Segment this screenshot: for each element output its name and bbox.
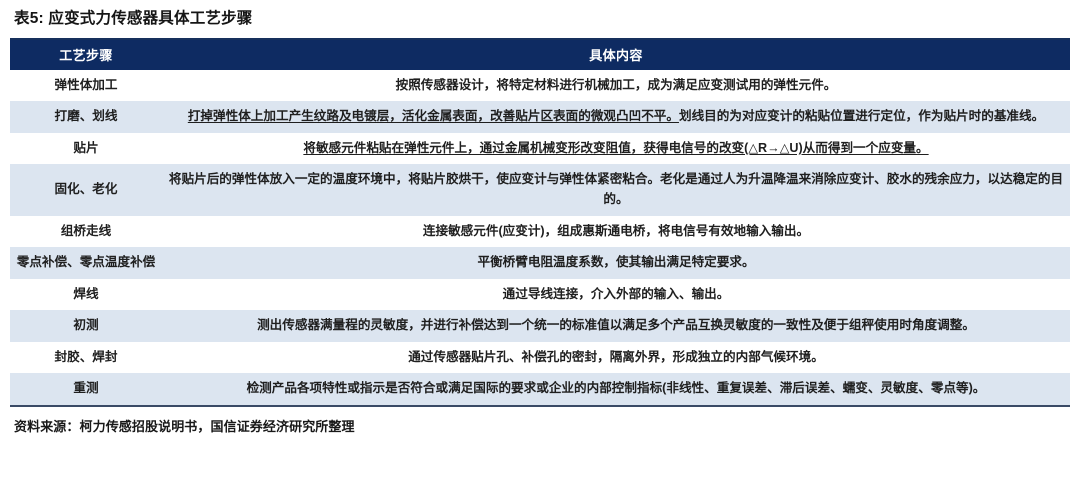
step-content-cell: 通过导线连接，介入外部的输入、输出。 xyxy=(162,279,1070,311)
table-row: 弹性体加工按照传感器设计，将特定材料进行机械加工，成为满足应变测试用的弹性元件。 xyxy=(10,70,1070,102)
step-content-cell: 打掉弹性体上加工产生纹路及电镀层，活化金属表面，改善贴片区表面的微观凸凹不平。划… xyxy=(162,101,1070,133)
plain-text: 划线目的为对应变计的粘贴位置进行定位，作为贴片时的基准线。 xyxy=(679,109,1044,123)
plain-text: 通过传感器贴片孔、补偿孔的密封，隔离外界，形成独立的内部气候环境。 xyxy=(408,350,824,364)
plain-text: 连接敏感元件(应变计)，组成惠斯通电桥，将电信号有效地输入输出。 xyxy=(423,224,809,238)
step-name-cell: 弹性体加工 xyxy=(10,70,162,102)
step-name-cell: 固化、老化 xyxy=(10,164,162,215)
source-note: 资料来源：柯力传感招股说明书，国信证券经济研究所整理 xyxy=(10,407,1070,435)
table-header-row: 工艺步骤 具体内容 xyxy=(10,39,1070,70)
step-content-cell: 测出传感器满量程的灵敏度，并进行补偿达到一个统一的标准值以满足多个产品互换灵敏度… xyxy=(162,310,1070,342)
column-header-step: 工艺步骤 xyxy=(10,39,162,70)
table-row: 重测检测产品各项特性或指示是否符合或满足国际的要求或企业的内部控制指标(非线性、… xyxy=(10,373,1070,406)
underlined-text: 将敏感元件粘贴在弹性元件上，通过金属机械变形改变阻值，获得电信号的改变(△R→△… xyxy=(303,141,928,155)
table-row: 固化、老化将贴片后的弹性体放入一定的温度环境中，将贴片胶烘干，使应变计与弹性体紧… xyxy=(10,164,1070,215)
plain-text: 检测产品各项特性或指示是否符合或满足国际的要求或企业的内部控制指标(非线性、重复… xyxy=(247,381,986,395)
plain-text: 通过导线连接，介入外部的输入、输出。 xyxy=(503,287,730,301)
step-name-cell: 打磨、划线 xyxy=(10,101,162,133)
step-content-cell: 检测产品各项特性或指示是否符合或满足国际的要求或企业的内部控制指标(非线性、重复… xyxy=(162,373,1070,406)
step-content-cell: 将贴片后的弹性体放入一定的温度环境中，将贴片胶烘干，使应变计与弹性体紧密粘合。老… xyxy=(162,164,1070,215)
step-name-cell: 组桥走线 xyxy=(10,216,162,248)
table-row: 焊线通过导线连接，介入外部的输入、输出。 xyxy=(10,279,1070,311)
table-row: 组桥走线连接敏感元件(应变计)，组成惠斯通电桥，将电信号有效地输入输出。 xyxy=(10,216,1070,248)
plain-text: 平衡桥臂电阻温度系数，使其输出满足特定要求。 xyxy=(477,255,754,269)
step-name-cell: 零点补偿、零点温度补偿 xyxy=(10,247,162,279)
table-row: 初测测出传感器满量程的灵敏度，并进行补偿达到一个统一的标准值以满足多个产品互换灵… xyxy=(10,310,1070,342)
step-name-cell: 贴片 xyxy=(10,133,162,165)
page-title: 表5: 应变式力传感器具体工艺步骤 xyxy=(10,0,1070,38)
table-header: 工艺步骤 具体内容 xyxy=(10,39,1070,70)
step-content-cell: 连接敏感元件(应变计)，组成惠斯通电桥，将电信号有效地输入输出。 xyxy=(162,216,1070,248)
step-name-cell: 封胶、焊封 xyxy=(10,342,162,374)
underlined-text: 打掉弹性体上加工产生纹路及电镀层，活化金属表面，改善贴片区表面的微观凸凹不平。 xyxy=(188,109,679,123)
step-name-cell: 重测 xyxy=(10,373,162,406)
step-content-cell: 将敏感元件粘贴在弹性元件上，通过金属机械变形改变阻值，获得电信号的改变(△R→△… xyxy=(162,133,1070,165)
table-row: 零点补偿、零点温度补偿平衡桥臂电阻温度系数，使其输出满足特定要求。 xyxy=(10,247,1070,279)
step-content-cell: 通过传感器贴片孔、补偿孔的密封，隔离外界，形成独立的内部气候环境。 xyxy=(162,342,1070,374)
plain-text: 测出传感器满量程的灵敏度，并进行补偿达到一个统一的标准值以满足多个产品互换灵敏度… xyxy=(257,318,975,332)
table-figure: 表5: 应变式力传感器具体工艺步骤 工艺步骤 具体内容 弹性体加工按照传感器设计… xyxy=(0,0,1080,499)
table-row: 贴片将敏感元件粘贴在弹性元件上，通过金属机械变形改变阻值，获得电信号的改变(△R… xyxy=(10,133,1070,165)
step-content-cell: 按照传感器设计，将特定材料进行机械加工，成为满足应变测试用的弹性元件。 xyxy=(162,70,1070,102)
table-body: 弹性体加工按照传感器设计，将特定材料进行机械加工，成为满足应变测试用的弹性元件。… xyxy=(10,70,1070,406)
column-header-content: 具体内容 xyxy=(162,39,1070,70)
step-content-cell: 平衡桥臂电阻温度系数，使其输出满足特定要求。 xyxy=(162,247,1070,279)
plain-text: 按照传感器设计，将特定材料进行机械加工，成为满足应变测试用的弹性元件。 xyxy=(396,78,837,92)
table-row: 打磨、划线打掉弹性体上加工产生纹路及电镀层，活化金属表面，改善贴片区表面的微观凸… xyxy=(10,101,1070,133)
step-name-cell: 焊线 xyxy=(10,279,162,311)
table-row: 封胶、焊封通过传感器贴片孔、补偿孔的密封，隔离外界，形成独立的内部气候环境。 xyxy=(10,342,1070,374)
step-name-cell: 初测 xyxy=(10,310,162,342)
plain-text: 将贴片后的弹性体放入一定的温度环境中，将贴片胶烘干，使应变计与弹性体紧密粘合。老… xyxy=(169,172,1063,206)
process-steps-table: 工艺步骤 具体内容 弹性体加工按照传感器设计，将特定材料进行机械加工，成为满足应… xyxy=(10,38,1070,407)
